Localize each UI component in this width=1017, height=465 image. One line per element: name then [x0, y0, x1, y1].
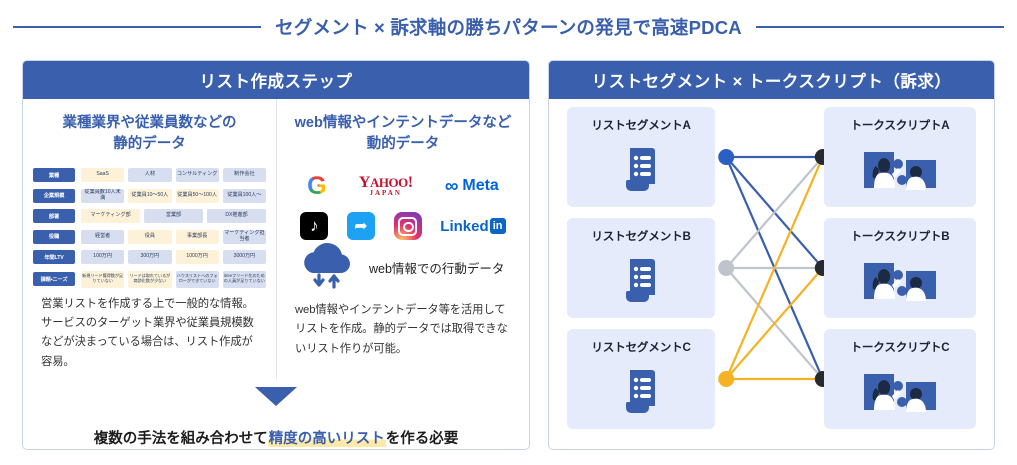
static-data-column: 業種業界や従業員数などの 静的データ 業種SaaS人材コンサルティング制作会社企…: [23, 99, 276, 379]
left-panel-conclusion: 複数の手法を組み合わせて精度の高いリストを作る必要: [23, 427, 529, 448]
cloud-icon: [297, 243, 359, 291]
yahoo-japan-logo: YAHOO!JAPAN: [359, 171, 413, 201]
matrix-cells: 従業員数10人未満従業員10〜50人従業員50〜100人従業員100人〜: [81, 189, 266, 203]
google-logo: G: [307, 171, 326, 201]
matrix-row-label: 役職: [33, 230, 75, 244]
list-creation-panel-body: 業種業界や従業員数などの 静的データ 業種SaaS人材コンサルティング制作会社企…: [23, 99, 529, 449]
matrix-chip[interactable]: 300万円: [128, 250, 171, 264]
script-card-c[interactable]: トークスクリプトC: [824, 329, 976, 429]
segment-card-c[interactable]: リストセグメントC: [567, 329, 715, 429]
segment-card-b-title: リストセグメントB: [591, 228, 690, 244]
matrix-row: 業種SaaS人材コンサルティング制作会社: [33, 167, 266, 183]
logo-row-2: ♪ ➦ Linkedin: [291, 211, 515, 241]
matrix-chip[interactable]: マーケティング担当者: [223, 230, 266, 244]
matrix-chip[interactable]: リードは取れているが商談化数が少ない: [128, 271, 171, 288]
network-edge: [726, 157, 823, 379]
matrix-cells: マーケティング部営業部DX推進部: [81, 209, 266, 223]
dynamic-data-description: web情報やインテントデータ等を活用してリストを作成。静的データでは取得できない…: [285, 301, 521, 359]
matrix-chip[interactable]: 従業員数10人未満: [81, 189, 124, 203]
matrix-row-label: 課題・ニーズ: [33, 272, 75, 286]
segment-card-a[interactable]: リストセグメントA: [567, 107, 715, 207]
matrix-row: 年間LTV100万円300万円1000万円3000万円: [33, 249, 266, 265]
matrix-chip[interactable]: 事業部長: [176, 230, 219, 244]
slide-root: セグメント × 訴求軸の勝ちパターンの発見で高速PDCA リスト作成ステップ 業…: [0, 0, 1017, 465]
static-data-description: 営業リストを作成する上で一般的な情報。サービスのターゲット業界や従業員規模数など…: [31, 295, 268, 373]
title-rule-left: [13, 26, 261, 28]
linkedin-logo: Linkedin: [440, 211, 505, 241]
segment-script-panel-header: リストセグメント × トークスクリプト（訴求）: [549, 61, 994, 99]
instagram-logo: [394, 211, 422, 241]
matrix-cells: 経営者役員事業部長マーケティング担当者: [81, 230, 266, 244]
matrix-chip[interactable]: 3000万円: [223, 250, 266, 264]
data-type-columns: 業種業界や従業員数などの 静的データ 業種SaaS人材コンサルティング制作会社企…: [23, 99, 529, 379]
matrix-chip[interactable]: ハウスリストへのフォローができていない: [176, 271, 219, 288]
segment-card-c-title: リストセグメントC: [591, 339, 690, 355]
down-arrow-icon: [255, 387, 297, 406]
network-edge: [726, 157, 823, 268]
matrix-row: 役職経営者役員事業部長マーケティング担当者: [33, 229, 266, 245]
segment-script-panel-body: リストセグメントA リストセグメントB: [549, 99, 994, 449]
list-document-icon: [618, 244, 664, 318]
script-card-b-title: トークスクリプトB: [851, 228, 950, 244]
meta-logo: ∞Meta: [445, 171, 499, 201]
matrix-cells: 100万円300万円1000万円3000万円: [81, 250, 266, 264]
matrix-row: 部署マーケティング部営業部DX推進部: [33, 208, 266, 224]
matrix-chip[interactable]: 経営者: [81, 230, 124, 244]
list-document-icon: [618, 355, 664, 429]
logo-row-1: G YAHOO!JAPAN ∞Meta: [291, 171, 515, 201]
script-card-a[interactable]: トークスクリプトA: [824, 107, 976, 207]
matrix-chip[interactable]: 100万円: [81, 250, 124, 264]
matrix-chip[interactable]: 営業部: [144, 209, 203, 223]
static-data-title-line2: 静的データ: [113, 136, 186, 152]
network-edge: [726, 157, 823, 379]
matrix-chip[interactable]: 新規リード獲得数が足りていない: [81, 271, 124, 288]
dynamic-data-title-line1: web情報やインテントデータなど: [295, 115, 512, 131]
matrix-chip[interactable]: 役員: [128, 230, 171, 244]
tiktok-logo: ♪: [300, 211, 328, 241]
script-card-a-title: トークスクリプトA: [851, 117, 950, 133]
two-people-puzzle-icon: [854, 133, 946, 207]
matrix-row-label: 部署: [33, 209, 75, 223]
web-behavior-data-row: web情報での行動データ: [285, 241, 521, 291]
matrix-chip[interactable]: SaaS: [81, 168, 124, 182]
matrix-chip[interactable]: 従業員100人〜: [223, 189, 266, 203]
list-creation-panel-header: リスト作成ステップ: [23, 61, 529, 99]
matrix-cells: SaaS人材コンサルティング制作会社: [81, 168, 266, 182]
matrix-row: 企業規模従業員数10人未満従業員10〜50人従業員50〜100人従業員100人〜: [33, 188, 266, 204]
script-card-c-title: トークスクリプトC: [851, 339, 950, 355]
matrix-row-label: 企業規模: [33, 189, 75, 203]
script-card-b[interactable]: トークスクリプトB: [824, 218, 976, 318]
conclusion-text-before: 複数の手法を組み合わせて: [94, 431, 268, 447]
matrix-chip[interactable]: マーケティング部: [81, 209, 140, 223]
matrix-chip[interactable]: DX推進部: [207, 209, 266, 223]
matrix-row: 課題・ニーズ新規リード獲得数が足りていないリードは取れているが商談化数が少ないハ…: [33, 270, 266, 289]
data-source-logos: G YAHOO!JAPAN ∞Meta ♪ ➦: [285, 167, 521, 241]
page-title: セグメント × 訴求軸の勝ちパターンの発見で高速PDCA: [275, 14, 742, 40]
attribute-matrix: 業種SaaS人材コンサルティング制作会社企業規模従業員数10人未満従業員10〜5…: [31, 167, 268, 289]
segment-node-c[interactable]: [718, 371, 734, 387]
static-data-title-line1: 業種業界や従業員数などの: [63, 115, 237, 131]
matrix-chip[interactable]: コンサルティング: [176, 168, 219, 182]
segment-card-a-title: リストセグメントA: [591, 117, 690, 133]
segment-node-a[interactable]: [718, 149, 734, 165]
matrix-chip[interactable]: 従業員10〜50人: [128, 189, 171, 203]
matrix-chip[interactable]: 制作会社: [223, 168, 266, 182]
segment-script-panel: リストセグメント × トークスクリプト（訴求） リストセグメントA: [548, 60, 995, 450]
matrix-chip[interactable]: 人材: [128, 168, 171, 182]
segment-card-b[interactable]: リストセグメントB: [567, 218, 715, 318]
list-creation-panel: リスト作成ステップ 業種業界や従業員数などの 静的データ 業種SaaS人材コンサ…: [22, 60, 530, 450]
matrix-cells: 新規リード獲得数が足りていないリードは取れているが商談化数が少ないハウスリストへ…: [81, 271, 266, 288]
conclusion-text-highlight: 精度の高いリスト: [268, 431, 386, 447]
dynamic-data-column: web情報やインテントデータなど 動的データ G YAHOO!JAPAN ∞Me…: [276, 99, 529, 379]
network-edge: [726, 157, 823, 268]
matrix-chip[interactable]: 従業員50〜100人: [176, 189, 219, 203]
static-data-title: 業種業界や従業員数などの 静的データ: [31, 113, 268, 155]
two-people-puzzle-icon: [854, 355, 946, 429]
network-edge: [726, 268, 823, 379]
dynamic-data-title: web情報やインテントデータなど 動的データ: [285, 113, 521, 155]
slide-title-bar: セグメント × 訴求軸の勝ちパターンの発見で高速PDCA: [0, 10, 1017, 44]
segment-node-b[interactable]: [718, 260, 734, 276]
matrix-chip[interactable]: 1000万円: [176, 250, 219, 264]
mapping-network: リストセグメントA リストセグメントB: [549, 99, 994, 450]
matrix-row-label: 業種: [33, 168, 75, 182]
conclusion-text-after: を作る必要: [386, 431, 459, 447]
title-rule-right: [756, 26, 1004, 28]
dynamic-data-title-line2: 動的データ: [367, 136, 440, 152]
network-edge: [726, 268, 823, 379]
matrix-row-label: 年間LTV: [33, 250, 75, 264]
twitter-logo: ➦: [347, 211, 375, 241]
list-document-icon: [618, 133, 664, 207]
two-people-puzzle-icon: [854, 244, 946, 318]
web-behavior-data-label: web情報での行動データ: [369, 258, 504, 277]
matrix-chip[interactable]: itreeフリード化のための人員が足りていない: [223, 271, 266, 288]
